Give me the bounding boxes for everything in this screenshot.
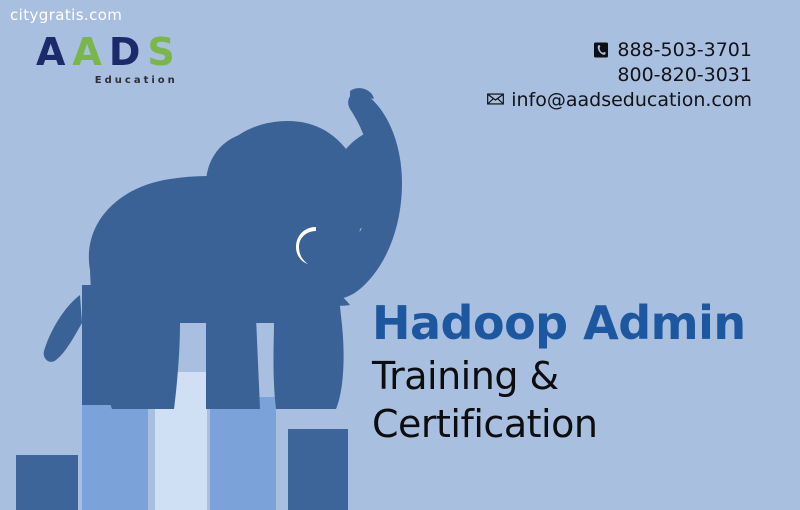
logo-letter-d: D xyxy=(109,30,148,74)
logo-subtitle: Education xyxy=(36,75,182,86)
contact-phone-primary[interactable]: 888-503-3701 xyxy=(487,38,752,63)
watermark-text: citygratis.com xyxy=(10,6,122,24)
chart-bar-5 xyxy=(288,429,348,510)
envelope-icon xyxy=(487,92,504,109)
logo-letter-s: S xyxy=(147,30,181,74)
phone-icon xyxy=(593,42,610,59)
hadoop-elephant-icon xyxy=(20,75,420,430)
phone-primary-text: 888-503-3701 xyxy=(617,38,752,63)
elephant-tail xyxy=(44,295,82,362)
promo-banner: citygratis.com AADS Education xyxy=(0,0,800,510)
email-text: info@aadseducation.com xyxy=(511,88,752,113)
headline-block: Hadoop Admin Training & Certification xyxy=(372,296,778,448)
phone-secondary-text: 800-820-3031 xyxy=(617,63,752,88)
chart-bar-1 xyxy=(16,455,78,510)
logo-letter-a1: A xyxy=(36,30,72,74)
page-subtitle: Training & Certification xyxy=(372,352,778,448)
contact-email[interactable]: info@aadseducation.com xyxy=(487,88,752,113)
logo-letter-a2: A xyxy=(72,30,108,74)
elephant-front-leg xyxy=(206,301,260,409)
aads-logo[interactable]: AADS Education xyxy=(36,33,182,86)
page-title: Hadoop Admin xyxy=(372,296,778,350)
logo-wordmark: AADS xyxy=(36,33,182,71)
contact-block: 888-503-3701 800-820-3031 info@aadseduca… xyxy=(487,38,752,113)
contact-phone-secondary[interactable]: 800-820-3031 xyxy=(487,63,752,88)
